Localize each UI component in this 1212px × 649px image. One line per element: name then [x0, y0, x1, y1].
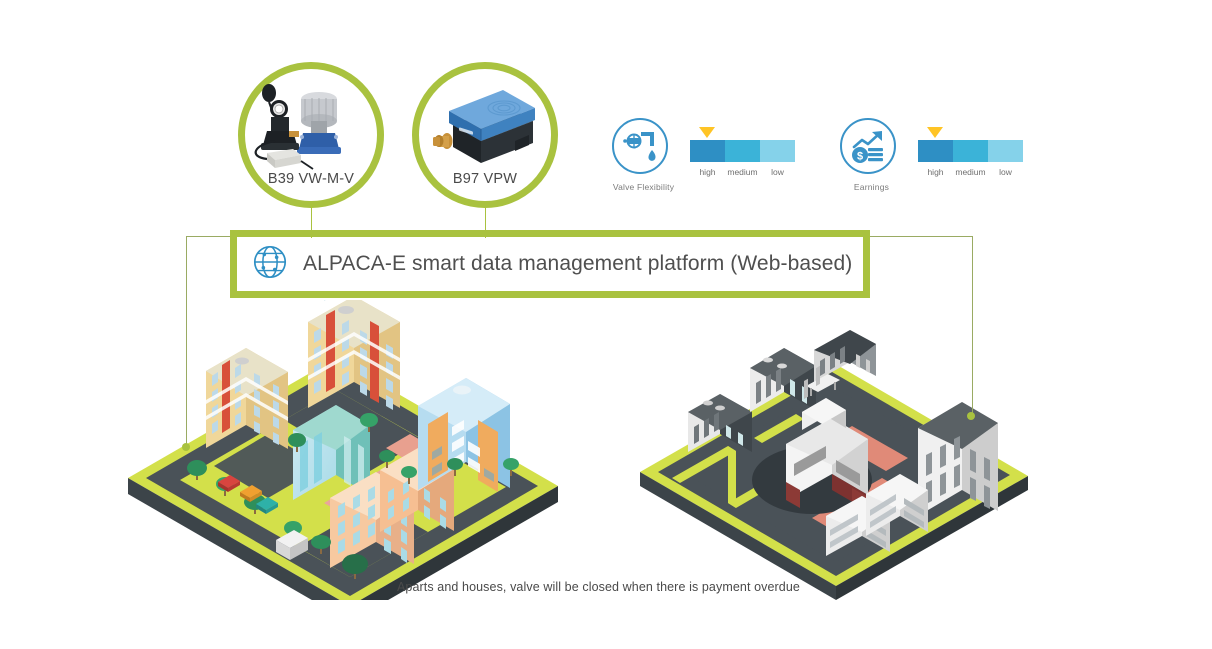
- metric-label-valve-flexibility: Valve Flexibility: [606, 182, 681, 192]
- device-stem-b97: [485, 205, 486, 238]
- gauge-label-high: high: [918, 167, 953, 177]
- connector-line-right: [869, 236, 973, 417]
- blue-valve-actuator-image: [419, 79, 551, 171]
- commercial-city-illustration: [636, 320, 1036, 605]
- globe-network-icon: [251, 243, 289, 286]
- gauge-segment-low: [988, 140, 1023, 162]
- platform-banner[interactable]: ALPACA-E smart data management platform …: [230, 230, 870, 298]
- connector-endpoint-left: [182, 443, 190, 451]
- metric-label-earnings: Earnings: [834, 182, 909, 192]
- device-card-b39[interactable]: B39 VW-M-V: [238, 62, 384, 208]
- device-card-b97[interactable]: B97 VPW: [412, 62, 558, 208]
- gauge-earnings[interactable]: high medium low: [918, 140, 1023, 177]
- infographic-canvas: ALPACA-E smart data management platform …: [0, 0, 1212, 649]
- gauge-label-low: low: [760, 167, 795, 177]
- connector-line-left: [186, 236, 232, 447]
- gauge-segment-high: [918, 140, 953, 162]
- water-meter-valve-actuator-image: [245, 79, 377, 171]
- diagram-caption: Aparts and houses, valve will be closed …: [397, 580, 800, 594]
- gauge-label-medium: medium: [953, 167, 988, 177]
- gauge-label-high: high: [690, 167, 725, 177]
- device-stem-b39: [311, 205, 312, 238]
- gauge-valve-flexibility[interactable]: high medium low: [690, 140, 795, 177]
- faucet-water-drop-icon: [612, 118, 668, 174]
- connector-endpoint-right: [967, 412, 975, 420]
- gauge-segment-medium: [725, 140, 760, 162]
- platform-title: ALPACA-E smart data management platform …: [303, 252, 852, 276]
- gauge-label-low: low: [988, 167, 1023, 177]
- device-label-b39: B39 VW-M-V: [245, 171, 377, 187]
- svg-text:$: $: [857, 151, 863, 163]
- gauge-segment-low: [760, 140, 795, 162]
- gauge-segment-medium: [953, 140, 988, 162]
- gauge-pointer-earnings: [927, 127, 943, 138]
- gauge-pointer-valve-flexibility: [699, 127, 715, 138]
- device-label-b97: B97 VPW: [419, 171, 551, 187]
- gauge-segment-high: [690, 140, 725, 162]
- growth-chart-money-icon: $: [840, 118, 896, 174]
- gauge-label-medium: medium: [725, 167, 760, 177]
